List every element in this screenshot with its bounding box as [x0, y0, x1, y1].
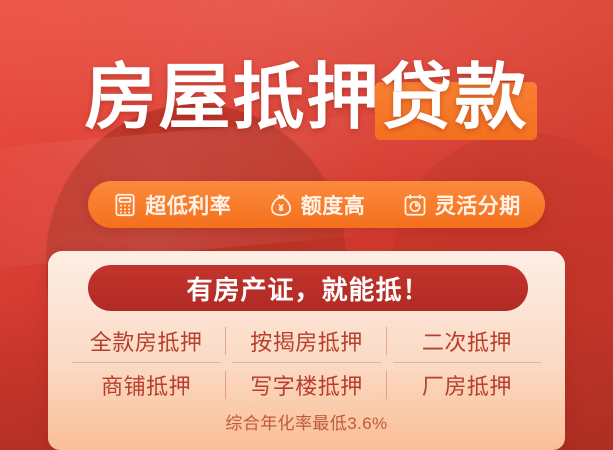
option-cell[interactable]: 厂房抵押 — [387, 363, 547, 407]
title-accent: 贷款 — [381, 62, 529, 134]
option-label: 写字楼抵押 — [250, 369, 363, 401]
feature-label-low-rate: 超低利率 — [145, 190, 231, 220]
card-headline-pill: 有房产证，就能抵！ — [88, 265, 528, 311]
option-label: 按揭房抵押 — [250, 325, 363, 357]
option-cell[interactable]: 商铺抵押 — [66, 363, 226, 407]
feature-pill: 超低利率 额度高 — [88, 181, 545, 228]
feature-item-low-rate: 超低利率 — [112, 190, 231, 220]
offer-card: 有房产证，就能抵！ 全款房抵押 按揭房抵押 二次抵押 商铺抵押 写字楼抵押 厂房… — [48, 251, 565, 450]
money-bag-icon — [268, 192, 294, 218]
promo-banner: 房屋抵押 贷款 — [0, 0, 613, 450]
feature-label-high-amount: 额度高 — [301, 190, 366, 220]
option-cell[interactable]: 写字楼抵押 — [226, 363, 386, 407]
title-accent-text: 贷款 — [381, 58, 529, 138]
page-title: 房屋抵押 贷款 — [84, 62, 528, 134]
annual-rate-note: 综合年化率最低3.6% — [48, 409, 565, 434]
option-label: 全款房抵押 — [90, 325, 203, 357]
feature-label-flexible-terms: 灵活分期 — [435, 190, 521, 220]
mortgage-options-grid: 全款房抵押 按揭房抵押 二次抵押 商铺抵押 写字楼抵押 厂房抵押 — [66, 319, 547, 407]
card-headline-text: 有房产证，就能抵！ — [186, 270, 429, 307]
option-cell[interactable]: 二次抵押 — [387, 319, 547, 363]
option-cell[interactable]: 按揭房抵押 — [226, 319, 386, 363]
option-label: 商铺抵押 — [101, 369, 191, 401]
calculator-icon — [112, 192, 138, 218]
option-cell[interactable]: 全款房抵押 — [66, 319, 226, 363]
feature-item-flexible-terms: 灵活分期 — [402, 190, 521, 220]
calendar-clock-icon — [402, 192, 428, 218]
option-label: 二次抵押 — [422, 325, 512, 357]
title-main-text: 房屋抵押 — [84, 62, 380, 134]
title-row: 房屋抵押 贷款 — [0, 52, 613, 144]
option-label: 厂房抵押 — [422, 369, 512, 401]
feature-item-high-amount: 额度高 — [268, 190, 366, 220]
